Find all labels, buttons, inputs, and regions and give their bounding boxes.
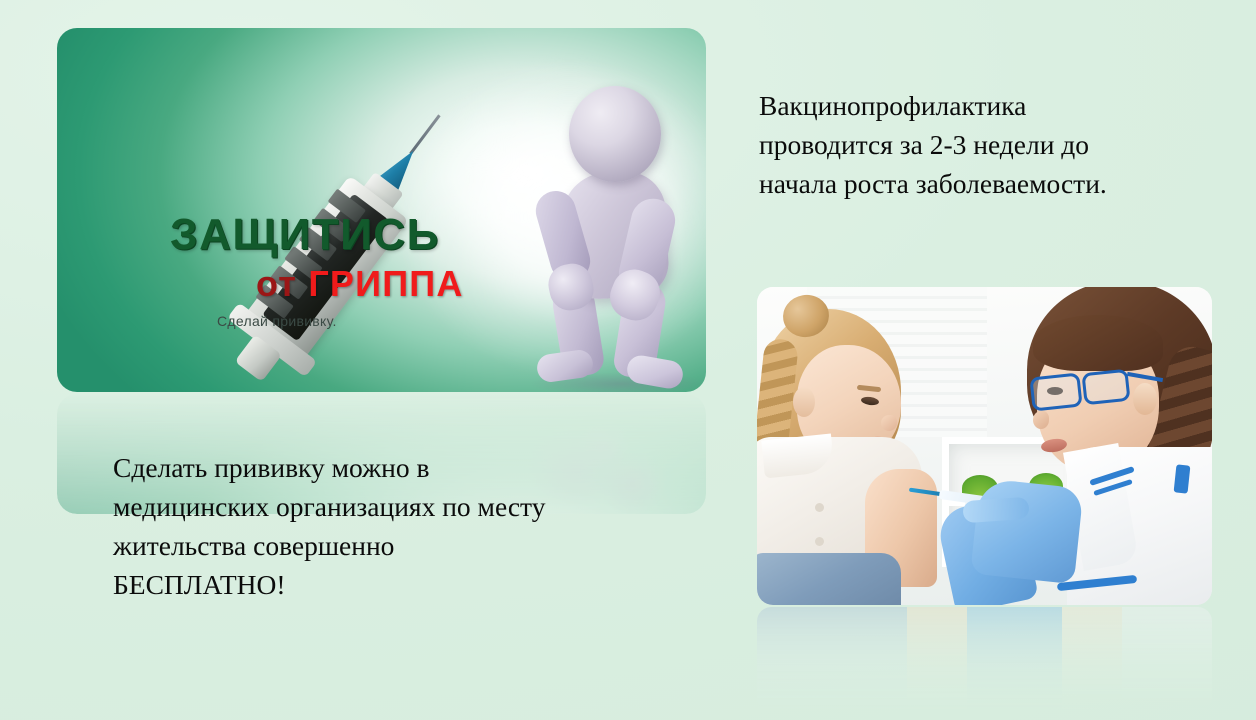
text-line: Сделать прививку можно в — [113, 448, 663, 487]
vaccination-photo[interactable] — [757, 287, 1212, 605]
text-block-top: Вакцинопрофилактика проводится за 2-3 не… — [759, 86, 1199, 203]
flu-poster-image[interactable]: ЗАЩИТИСЬ от ГРИППА Сделай прививку. — [57, 28, 706, 392]
poster-tagline: Сделай прививку. — [217, 313, 337, 329]
poster-subtitle-prefix: от — [256, 263, 308, 304]
slide-canvas: ЗАЩИТИСЬ от ГРИППА Сделай прививку. — [0, 0, 1256, 720]
mannequin-figure-icon — [527, 86, 706, 386]
text-line: Вакцинопрофилактика — [759, 86, 1199, 125]
poster-card: ЗАЩИТИСЬ от ГРИППА Сделай прививку. — [57, 28, 706, 392]
photo-reflection — [757, 607, 1212, 712]
poster-subtitle-main: ГРИППА — [308, 263, 463, 304]
text-block-bottom: Сделать прививку можно в медицинских орг… — [113, 448, 663, 604]
photo-card — [757, 287, 1212, 605]
text-line: проводится за 2-3 недели до — [759, 125, 1199, 164]
text-line: медицинских организациях по месту — [113, 487, 663, 526]
text-line: начала роста заболеваемости. — [759, 164, 1199, 203]
poster-artwork: ЗАЩИТИСЬ от ГРИППА Сделай прививку. — [57, 28, 706, 392]
poster-subtitle: от ГРИППА — [256, 263, 464, 305]
text-line: БЕСПЛАТНО! — [113, 565, 663, 604]
poster-title: ЗАЩИТИСЬ — [170, 210, 440, 260]
text-line: жительства совершенно — [113, 526, 663, 565]
